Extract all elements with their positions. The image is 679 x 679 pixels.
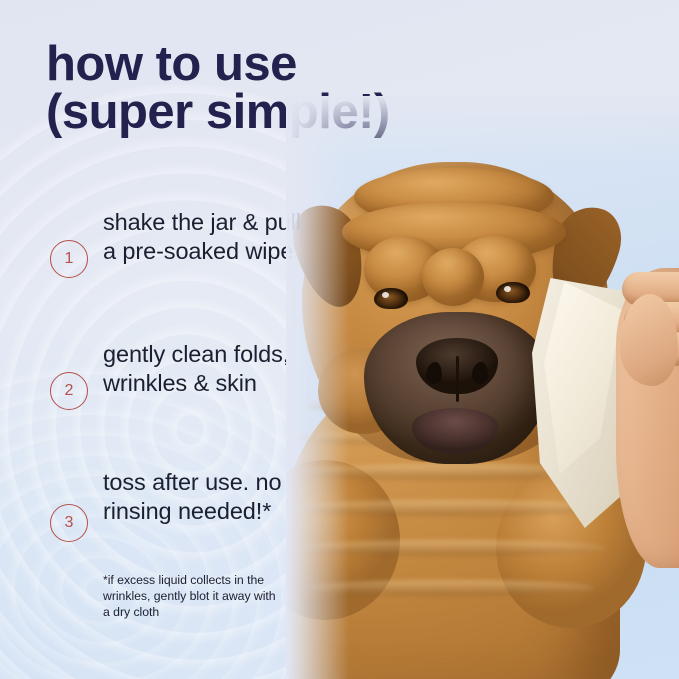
step-text: gently clean folds, wrinkles & skin	[103, 340, 318, 398]
dog-muzzle	[364, 312, 550, 464]
steps-list: 1 shake the jar & pull a pre-soaked wipe…	[0, 196, 320, 592]
step-number-badge: 2	[50, 372, 88, 410]
dog-lip	[412, 408, 498, 454]
product-photo	[286, 96, 679, 679]
step-text: shake the jar & pull a pre-soaked wipe	[103, 208, 318, 266]
dog-eye-right	[496, 282, 530, 303]
step-item: 3 toss after use. no rinsing needed!* *i…	[0, 460, 320, 592]
step-item: 2 gently clean folds, wrinkles & skin	[0, 328, 320, 460]
infographic-canvas: how to use (super simple!) 1 shake the j…	[0, 0, 679, 679]
page-title-line-1: how to use	[46, 40, 476, 88]
step-number-badge: 1	[50, 240, 88, 278]
footnote-text: *if excess liquid collects in the wrinkl…	[103, 572, 283, 621]
dog-eye-left	[374, 288, 408, 309]
step-text: toss after use. no rinsing needed!*	[103, 468, 333, 526]
step-number-badge: 3	[50, 504, 88, 542]
step-item: 1 shake the jar & pull a pre-soaked wipe	[0, 196, 320, 328]
page-title: how to use (super simple!)	[46, 40, 476, 136]
page-title-line-2: (super simple!)	[46, 88, 476, 136]
human-thumb	[620, 294, 678, 386]
